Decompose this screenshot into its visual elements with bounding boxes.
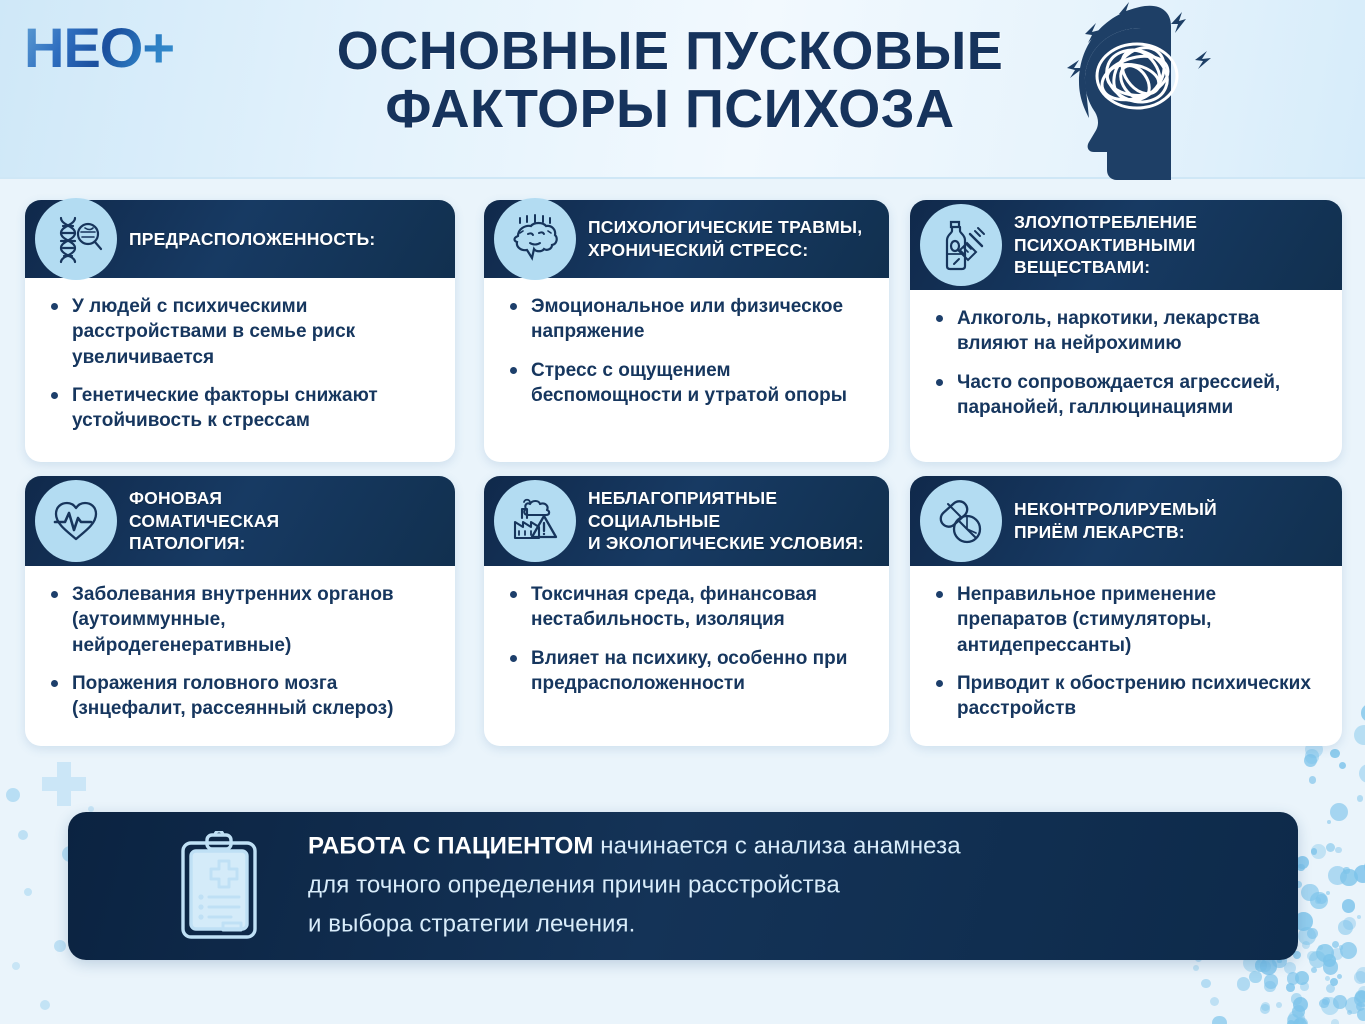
decor-dot: [1212, 1016, 1227, 1024]
card-social-ecological[interactable]: НЕБЛАГОПРИЯТНЫЕ СОЦИАЛЬНЫЕ И ЭКОЛОГИЧЕСК…: [484, 476, 889, 746]
banner-text: РАБОТА С ПАЦИЕНТОМ начинается с анализа …: [308, 828, 961, 945]
page-title-line-1: ОСНОВНЫЕ ПУСКОВЫЕ: [300, 22, 1040, 80]
decor-dot: [1323, 954, 1336, 967]
card-predisposition[interactable]: ПРЕДРАСПОЛОЖЕННОСТЬ: У людей с психическ…: [25, 200, 455, 462]
banner-line-2: для точного определения причин расстройс…: [308, 867, 961, 906]
decor-dot: [1295, 971, 1309, 985]
decor-dot: [1298, 927, 1316, 945]
decor-dot: [1297, 864, 1304, 871]
decor-dot: [1335, 847, 1342, 854]
decor-dot: [1296, 856, 1309, 869]
card-body: Токсичная среда, финансовая нестабильнос…: [484, 566, 889, 708]
decor-dot: [1293, 1018, 1308, 1024]
decor-dot: [1325, 976, 1330, 981]
decor-dot: [1255, 959, 1267, 971]
decor-dot: [1237, 977, 1251, 991]
banner-rest: начинается с анализа анамнеза: [594, 833, 961, 860]
head-with-tangled-brain-icon: [1045, 2, 1235, 180]
decor-dot: [1354, 991, 1365, 1007]
card-body: У людей с психическими расстройствами в …: [25, 278, 455, 445]
decor-dot: [18, 830, 28, 840]
list-item: Приводит к обострению психических расстр…: [932, 671, 1322, 722]
decor-dot: [1264, 974, 1278, 988]
decor-dot: [1201, 979, 1211, 989]
card-somatic-pathology[interactable]: ФОНОВАЯ СОМАТИЧЕСКАЯ ПАТОЛОГИЯ: Заболева…: [25, 476, 455, 746]
bullet-list: Алкоголь, наркотики, лекарства влияют на…: [932, 306, 1322, 420]
decor-dot: [54, 940, 66, 952]
decor-dot: [1293, 997, 1309, 1013]
decor-dot: [1321, 997, 1339, 1015]
decor-dot: [1326, 843, 1336, 853]
decor-dot: [1193, 965, 1199, 971]
banner-line-1: РАБОТА С ПАЦИЕНТОМ начинается с анализа …: [308, 828, 961, 867]
list-item: Влияет на психику, особенно при предрасп…: [506, 646, 869, 697]
decor-dot: [1315, 897, 1322, 904]
decor-dot: [1327, 820, 1331, 824]
decor-dot: [1261, 1002, 1271, 1012]
decor-dot: [1310, 892, 1327, 909]
decor-dot: [1354, 865, 1365, 883]
decor-dot: [1300, 982, 1309, 991]
decor-dot: [1302, 941, 1310, 949]
pills-capsule-icon: [920, 480, 1002, 562]
brand-logo: НЕО+: [24, 18, 224, 78]
stressed-brain-icon: [494, 198, 576, 280]
decor-dot: [1355, 990, 1365, 1003]
decor-dot: [1260, 958, 1276, 974]
decor-dot: [1339, 762, 1346, 769]
decor-dot: [1210, 997, 1219, 1006]
decor-dot: [1284, 962, 1296, 974]
decor-dot: [1354, 971, 1365, 984]
decor-dot: [1354, 725, 1365, 745]
decor-dot: [1328, 866, 1347, 885]
decor-dot: [1326, 984, 1335, 993]
bullet-list: Эмоциональное или физическое напряжение …: [506, 294, 869, 408]
list-item: Заболевания внутренних органов (аутоимму…: [47, 582, 435, 658]
list-item: Поражения головного мозга (знцефалит, ра…: [47, 671, 435, 722]
decor-dot: [1326, 891, 1330, 895]
decor-dot: [1311, 967, 1317, 973]
factory-warning-icon: [494, 480, 576, 562]
decor-dot: [6, 788, 20, 802]
list-item: Неправильное применение препаратов (стим…: [932, 582, 1322, 658]
card-uncontrolled-medication[interactable]: НЕКОНТРОЛИРУЕМЫЙ ПРИЁМ ЛЕКАРСТВ: Неправи…: [910, 476, 1342, 746]
decor-dot: [24, 888, 32, 896]
banner-lead: РАБОТА С ПАЦИЕНТОМ: [308, 833, 594, 860]
decor-dot: [1342, 899, 1356, 913]
decor-dot: [1340, 869, 1358, 887]
decor-dot: [1260, 961, 1271, 972]
decor-dot: [1347, 1010, 1353, 1016]
list-item: Генетические факторы снижают устойчивост…: [47, 383, 435, 434]
card-substance-abuse[interactable]: ЗЛОУПОТРЕБЛЕНИЕ ПСИХОАКТИВНЫМИ ВЕЩЕСТВАМ…: [910, 200, 1342, 462]
list-item: Токсичная среда, финансовая нестабильнос…: [506, 582, 869, 633]
page-title-line-2: ФАКТОРЫ ПСИХОЗА: [300, 80, 1040, 138]
decor-dot: [1311, 844, 1326, 859]
bullet-list: У людей с психическими расстройствами в …: [47, 294, 435, 433]
decor-dot: [1330, 749, 1340, 759]
decor-dot: [1309, 776, 1316, 783]
list-item: Эмоциональное или физическое напряжение: [506, 294, 869, 345]
decor-dot: [1286, 983, 1295, 992]
decor-dot: [1318, 945, 1323, 950]
decor-dot: [40, 1000, 50, 1010]
decor-dot: [1276, 1002, 1282, 1008]
decor-dot: [1345, 997, 1362, 1014]
decor-dot: [1304, 754, 1318, 768]
decor-dot: [1292, 1005, 1305, 1018]
decor-dot: [1359, 764, 1365, 783]
decor-dot: [1357, 1008, 1365, 1021]
decor-dot: [1288, 1010, 1305, 1024]
decor-dot: [1287, 1020, 1295, 1024]
footer-banner: РАБОТА С ПАЦИЕНТОМ начинается с анализа …: [68, 812, 1298, 960]
decor-dot: [1311, 848, 1318, 855]
decor-dot: [1361, 704, 1365, 722]
decor-dot: [1340, 942, 1357, 959]
decor-dot: [1309, 951, 1326, 968]
decor-dot: [1322, 997, 1331, 1006]
list-item: Алкоголь, наркотики, лекарства влияют на…: [932, 306, 1322, 357]
dna-magnifier-icon: [35, 198, 117, 280]
decor-dot: [1331, 1019, 1339, 1024]
decor-dot: [1331, 948, 1343, 960]
decor-dot: [1338, 920, 1353, 935]
card-body: Заболевания внутренних органов (аутоимму…: [25, 566, 455, 733]
bullet-list: Неправильное применение препаратов (стим…: [932, 582, 1322, 721]
decor-dot: [1330, 978, 1338, 986]
decor-dot: [1357, 915, 1361, 919]
decor-dot: [1337, 974, 1342, 979]
decor-dot: [1357, 795, 1364, 802]
decor-dot: [1287, 972, 1299, 984]
decor-dot: [1356, 967, 1365, 983]
decor-dot: [1332, 941, 1339, 948]
decor-dot: [1316, 894, 1326, 904]
page-title: ОСНОВНЫЕ ПУСКОВЫЕ ФАКТОРЫ ПСИХОЗА: [300, 22, 1040, 139]
decor-dot: [1307, 928, 1318, 939]
decor-dot: [1287, 1014, 1299, 1024]
decor-dot: [1249, 971, 1262, 984]
decor-dot: [1339, 945, 1344, 950]
decor-dot: [1343, 917, 1356, 930]
card-body: Алкоголь, наркотики, лекарства влияют на…: [910, 290, 1342, 432]
decor-dot: [1291, 993, 1302, 1004]
decor-dot: [1356, 1002, 1365, 1011]
list-item: Стресс с ощущением беспомощности и утрат…: [506, 358, 869, 409]
banner-line-3: и выбора стратегии лечения.: [308, 905, 961, 944]
clipboard-medical-icon: [173, 831, 265, 941]
decor-dot: [1319, 999, 1328, 1008]
list-item: Часто сопровождается агрессией, паранойе…: [932, 370, 1322, 421]
decor-dot: [1294, 1017, 1308, 1024]
decor-dot: [1343, 867, 1349, 873]
decor-dot: [1260, 1004, 1270, 1014]
decor-dot: [1264, 981, 1276, 993]
bullet-list: Токсичная среда, финансовая нестабильнос…: [506, 582, 869, 696]
page-header: НЕО+ ОСНОВНЫЕ ПУСКОВЫЕ ФАКТОРЫ ПСИХОЗА: [0, 0, 1365, 179]
decor-dot: [1305, 749, 1320, 764]
heart-pulse-icon: [35, 480, 117, 562]
card-body: Эмоциональное или физическое напряжение …: [484, 278, 889, 420]
decor-dot: [1333, 995, 1347, 1009]
bottle-syringe-icon: [920, 204, 1002, 286]
bullet-list: Заболевания внутренних органов (аутоимму…: [47, 582, 435, 721]
card-psychological-trauma[interactable]: ПСИХОЛОГИЧЕСКИЕ ТРАВМЫ, ХРОНИЧЕСКИЙ СТРЕ…: [484, 200, 889, 462]
decor-dot: [1307, 951, 1318, 962]
decor-dot: [1316, 944, 1334, 962]
card-body: Неправильное применение препаратов (стим…: [910, 566, 1342, 733]
decor-plus: [42, 777, 86, 791]
list-item: У людей с психическими расстройствами в …: [47, 294, 435, 370]
decor-dot: [1358, 986, 1365, 999]
decor-dot: [1301, 884, 1319, 902]
decor-dot: [1330, 803, 1348, 821]
decor-dot: [12, 962, 20, 970]
decor-dot: [1323, 959, 1339, 975]
